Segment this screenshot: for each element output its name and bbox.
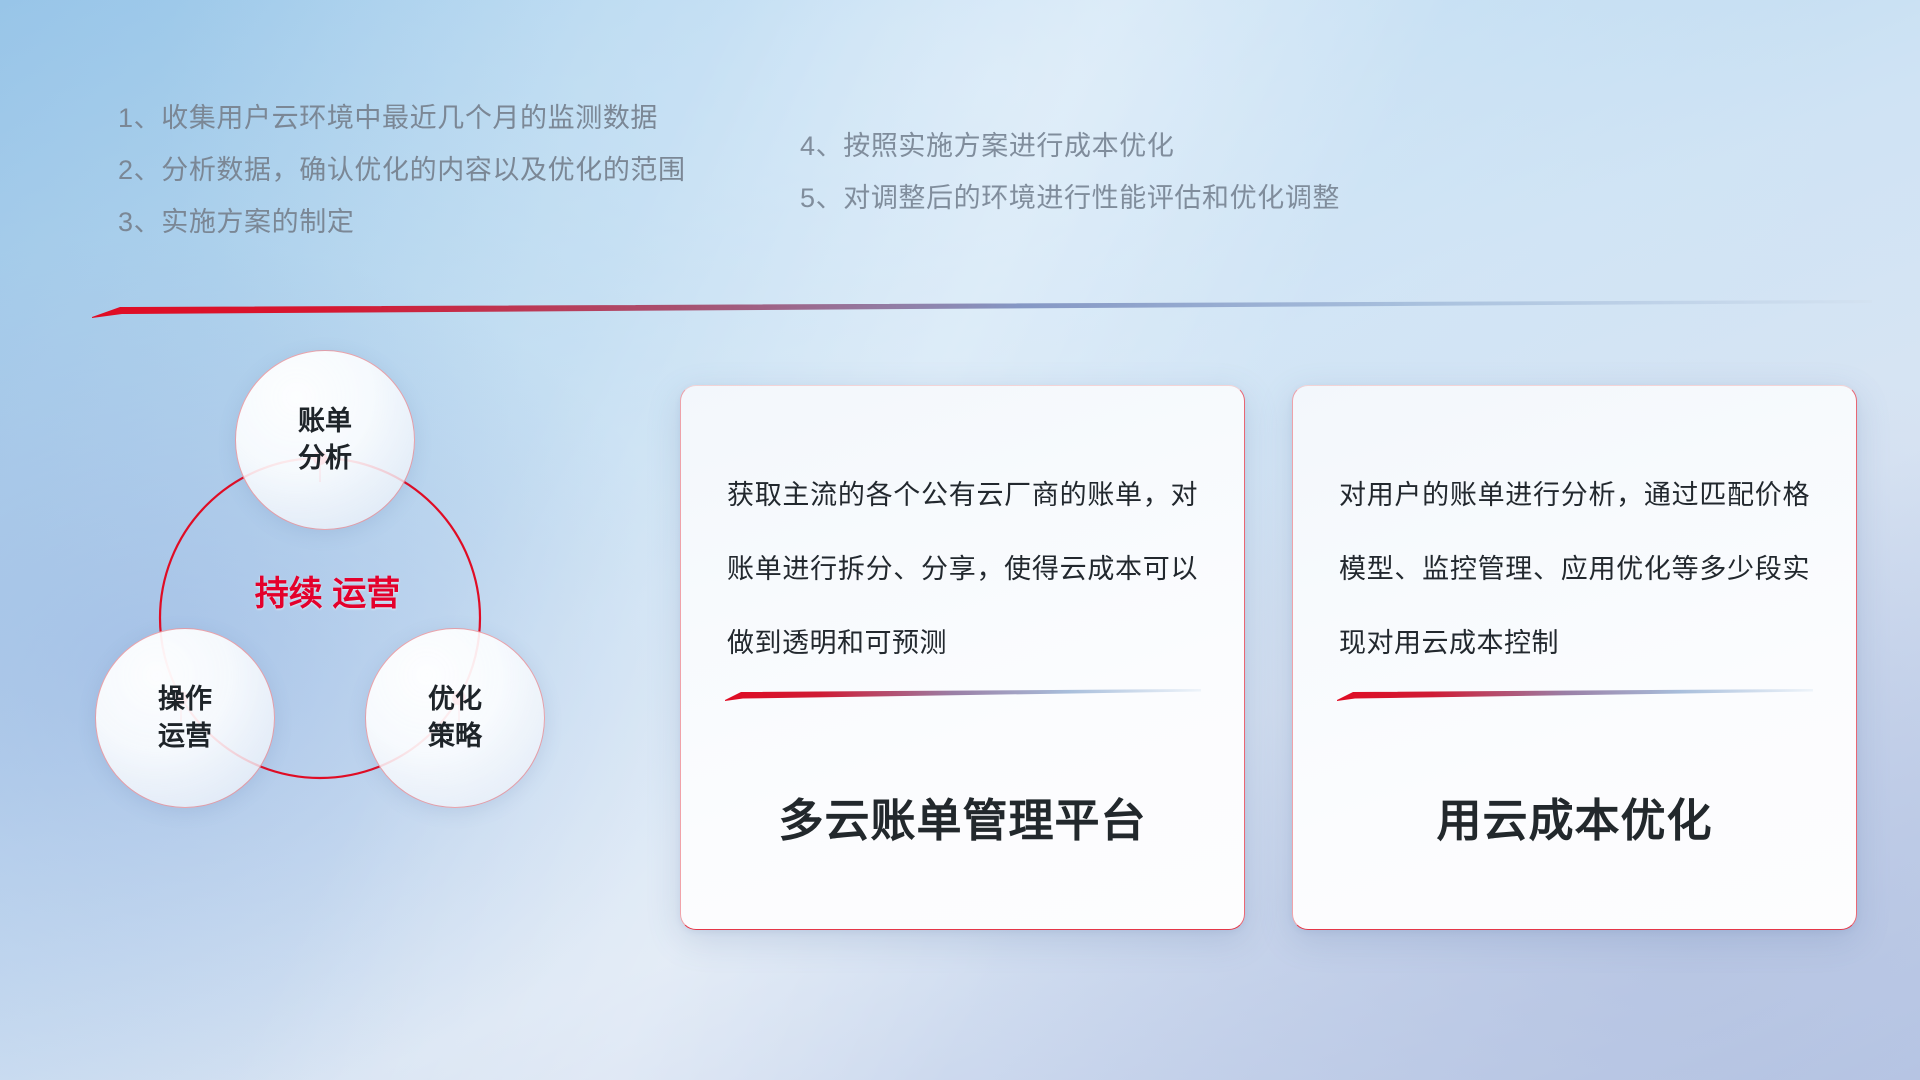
card-body-text: 获取主流的各个公有云厂商的账单，对账单进行拆分、分享，使得云成本可以做到透明和可… [681, 386, 1244, 680]
slide-canvas: 1、收集用户云环境中最近几个月的监测数据 2、分析数据，确认优化的内容以及优化的… [0, 0, 1920, 1080]
center-label-line-2: 运营 [332, 575, 400, 613]
step-item: 5、对调整后的环境进行性能评估和优化调整 [800, 172, 1340, 224]
section-divider [92, 300, 1872, 318]
card-rule-divider [725, 689, 1201, 701]
diagram-bubble-optimization-strategy[interactable]: 优化 策略 [365, 628, 545, 808]
step-item: 2、分析数据，确认优化的内容以及优化的范围 [118, 144, 686, 196]
bubble-line-2: 分析 [298, 440, 352, 477]
card-rule-divider [1337, 689, 1813, 701]
bubble-line-1: 优化 [428, 681, 482, 718]
card-body-text: 对用户的账单进行分析，通过匹配价格模型、监控管理、应用优化等多少段实现对用云成本… [1293, 386, 1856, 680]
center-label-line-1: 持续 [255, 575, 323, 613]
diagram-center-label: 持续 运营 [250, 572, 405, 616]
bubble-line-2: 运营 [158, 718, 212, 755]
step-item: 4、按照实施方案进行成本优化 [800, 120, 1340, 172]
diagram-bubble-bill-analysis[interactable]: 账单 分析 [235, 350, 415, 530]
steps-list-left: 1、收集用户云环境中最近几个月的监测数据 2、分析数据，确认优化的内容以及优化的… [118, 92, 686, 248]
bubble-line-1: 操作 [158, 681, 212, 718]
steps-list-right: 4、按照实施方案进行成本优化 5、对调整后的环境进行性能评估和优化调整 [800, 120, 1340, 224]
bubble-line-1: 账单 [298, 403, 352, 440]
continuous-operation-diagram: 账单 分析 操作 运营 优化 策略 持续 运营 [90, 350, 650, 950]
bubble-line-2: 策略 [428, 718, 482, 755]
feature-card-cloud-cost-optimization[interactable]: 对用户的账单进行分析，通过匹配价格模型、监控管理、应用优化等多少段实现对用云成本… [1292, 385, 1857, 930]
card-title: 用云成本优化 [1293, 784, 1856, 849]
step-item: 3、实施方案的制定 [118, 196, 686, 248]
feature-card-multicloud-billing[interactable]: 获取主流的各个公有云厂商的账单，对账单进行拆分、分享，使得云成本可以做到透明和可… [680, 385, 1245, 930]
card-title: 多云账单管理平台 [681, 784, 1244, 849]
diagram-bubble-operations[interactable]: 操作 运营 [95, 628, 275, 808]
step-item: 1、收集用户云环境中最近几个月的监测数据 [118, 92, 686, 144]
